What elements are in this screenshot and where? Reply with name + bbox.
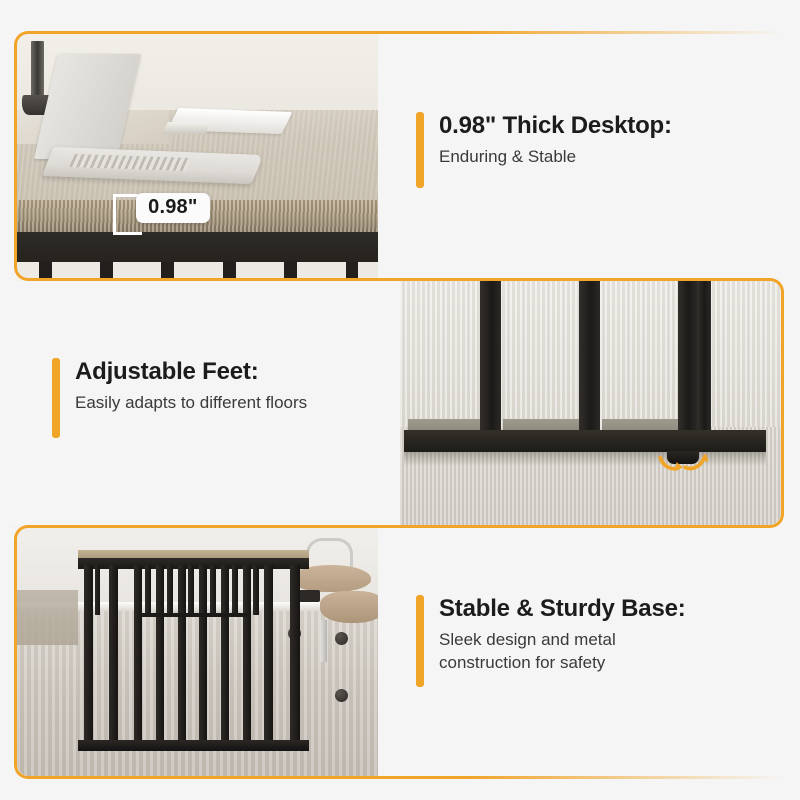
base-slat — [178, 565, 186, 744]
feature-subtitle-line: construction for safety — [439, 652, 686, 675]
accent-bar-icon — [416, 595, 424, 687]
desk-slat — [346, 262, 359, 278]
accent-bar-icon — [416, 112, 424, 188]
base-slat — [167, 565, 173, 615]
desk-apron-frame — [17, 232, 378, 263]
chair-caster — [335, 689, 348, 702]
desk-slat — [100, 262, 113, 278]
feature-title: 0.98" Thick Desktop: — [439, 112, 672, 141]
frame-edge-bottom — [28, 776, 784, 779]
feature-subtitle: Easily adapts to different floors — [75, 392, 307, 415]
feature-title: Stable & Sturdy Base: — [439, 595, 686, 624]
feature-image-sturdy-base — [17, 528, 378, 776]
feature-text-sturdy-base: Stable & Sturdy Base: Sleek design and m… — [416, 595, 686, 687]
infographic-canvas: 0.98" — [0, 0, 800, 800]
feature-text-adjustable-feet: Adjustable Feet: Easily adapts to differ… — [52, 358, 307, 438]
desk-lower-slat-area — [17, 262, 378, 278]
base-slat — [290, 565, 301, 744]
feature-subtitle: Enduring & Stable — [439, 146, 672, 169]
desk-slat — [223, 262, 236, 278]
feature-subtitle: Sleek design and metal construction for … — [439, 629, 686, 675]
chair-gas-cylinder — [320, 620, 327, 662]
feature-subtitle-line: Sleek design and metal — [439, 629, 686, 652]
base-slat — [188, 565, 194, 615]
desk-slat — [284, 262, 297, 278]
chair-seat — [291, 565, 370, 592]
base-slat — [232, 565, 238, 615]
base-slat — [253, 565, 259, 615]
base-slat — [84, 565, 93, 744]
desk-leg — [480, 281, 501, 442]
feature-text-thick-desktop: 0.98" Thick Desktop: Enduring & Stable — [416, 112, 672, 188]
base-slat — [210, 565, 216, 615]
base-slat — [134, 565, 142, 744]
base-slat — [145, 565, 151, 615]
desk-leg — [697, 281, 710, 452]
desk-leg — [678, 281, 697, 442]
feature-title: Adjustable Feet: — [75, 358, 307, 387]
frame-edge-right — [781, 292, 784, 514]
feature-text-body: Adjustable Feet: Easily adapts to differ… — [75, 358, 307, 415]
keyboard-object-edge — [162, 122, 211, 134]
thickness-badge: 0.98" — [136, 193, 209, 223]
chair-backrest — [320, 591, 378, 623]
floor-rug-edge — [17, 590, 78, 645]
rotation-arrow-icon — [640, 449, 724, 478]
monitor-stand-column — [31, 41, 44, 102]
feature-image-adjustable-feet — [400, 281, 781, 525]
feature-text-body: 0.98" Thick Desktop: Enduring & Stable — [439, 112, 672, 169]
base-slat — [109, 565, 118, 744]
base-slat — [199, 565, 207, 744]
base-crossbar — [140, 613, 248, 617]
base-slat — [156, 565, 164, 744]
desk-slat — [161, 262, 174, 278]
feature-image-thick-desktop: 0.98" — [17, 34, 378, 278]
feature-text-body: Stable & Sturdy Base: Sleek design and m… — [439, 595, 686, 675]
desk-slat — [39, 262, 52, 278]
chair-caster — [335, 632, 348, 645]
chair-mechanism — [299, 590, 321, 602]
base-slat — [264, 565, 273, 744]
base-slat — [221, 565, 229, 744]
base-slat — [95, 565, 101, 615]
desk-leg — [579, 281, 600, 442]
base-bottom-rail — [78, 740, 309, 751]
chair-armrest — [306, 538, 353, 568]
accent-bar-icon — [52, 358, 60, 438]
base-slat — [243, 565, 251, 744]
